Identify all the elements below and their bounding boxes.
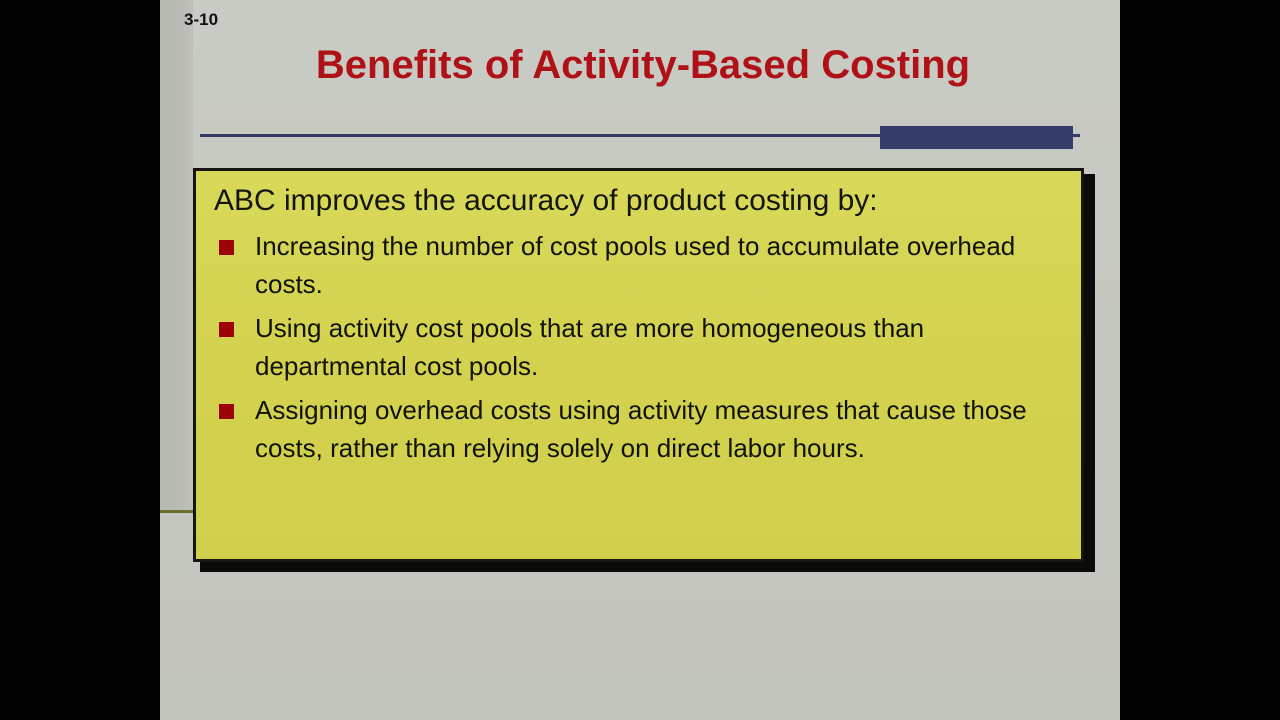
title-accent-bar [880,126,1073,149]
letterbox-bar-right [1120,0,1280,720]
list-item: Increasing the number of cost pools used… [208,227,1067,303]
list-item-text: Using activity cost pools that are more … [255,309,1067,385]
bullet-list: Increasing the number of cost pools used… [208,227,1067,467]
slide-canvas: 3-10 Benefits of Activity-Based Costing … [160,0,1120,720]
slide-left-accent-band [160,0,193,513]
square-bullet-icon [219,404,234,419]
content-heading: ABC improves the accuracy of product cos… [214,181,1067,221]
list-item-text: Increasing the number of cost pools used… [255,227,1067,303]
letterbox-bar-left [0,0,160,720]
slide-title: Benefits of Activity-Based Costing [193,40,1093,90]
content-panel: ABC improves the accuracy of product cos… [193,168,1084,562]
square-bullet-icon [219,322,234,337]
list-item-text: Assigning overhead costs using activity … [255,391,1067,467]
square-bullet-icon [219,240,234,255]
list-item: Using activity cost pools that are more … [208,309,1067,385]
presentation-viewport: 3-10 Benefits of Activity-Based Costing … [0,0,1280,720]
slide-number: 3-10 [184,10,218,30]
list-item: Assigning overhead costs using activity … [208,391,1067,467]
